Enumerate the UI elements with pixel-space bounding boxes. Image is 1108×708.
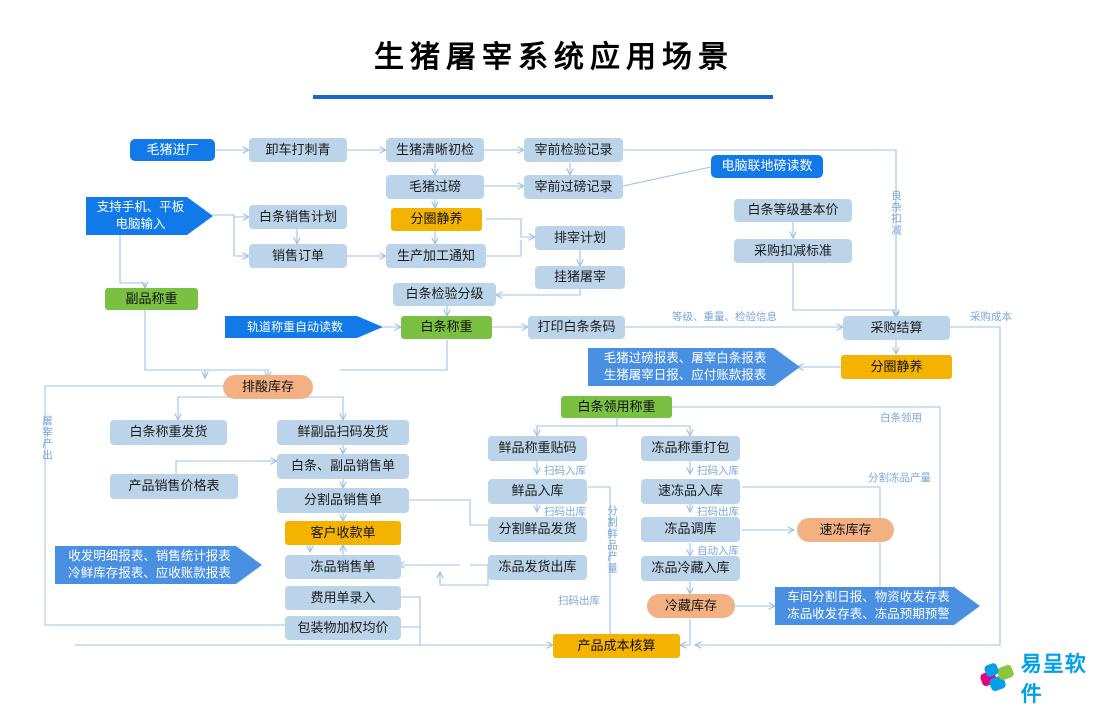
node-fresh-instock[interactable]: 鲜品入库 [488,479,587,504]
node-print-whitestrip-barcode[interactable]: 打印白条条码 [528,316,625,339]
node-whitestrip-weighing[interactable]: 白条称重 [401,316,492,339]
node-quickfrozen-inventory[interactable]: 速冻库存 [797,518,894,542]
node-fresh-weigh-label[interactable]: 鲜品称重贴码 [488,436,587,461]
node-byproduct-weighing[interactable]: 副品称重 [105,288,198,310]
banner-mobile-input: 支持手机、平板 电脑输入 [86,197,213,235]
banner-workshop-reports-line2: 冻品收发存表、冻品预期预警 [787,606,950,623]
node-product-price-list[interactable]: 产品销售价格表 [110,474,238,499]
edge-label-good-misc-deduction: 良杂扣减 [889,190,904,236]
banner-mobile-input-line1: 支持手机、平板 [97,199,185,216]
node-frozen-sales-order[interactable]: 冻品销售单 [285,555,401,579]
node-purchase-deduction-std[interactable]: 采购扣减标准 [734,239,852,263]
node-pen-rest[interactable]: 分圈静养 [391,208,482,231]
edge-label-scan-instock-1: 扫码入库 [544,463,586,478]
node-cold-storage-inventory[interactable]: 冷藏库存 [647,594,735,618]
node-production-notice[interactable]: 生产加工通知 [386,244,486,268]
logo-mark-icon [981,664,1015,692]
edge-label-scan-instock-2: 扫码入库 [697,463,739,478]
banner-purchase-reports-line1: 毛猪过磅报表、屠宰白条报表 [604,350,767,367]
node-whitestrip-ship-weigh[interactable]: 白条称重发货 [110,420,227,445]
node-computer-scale-reading[interactable]: 电脑联地磅读数 [711,155,823,178]
edge-label-cut-frozen-output: 分割冻品产量 [868,470,931,485]
brand-logo: 易呈软件 [981,648,1108,708]
banner-track-reading-text: 轨道称重自动读数 [247,319,343,335]
edge-label-purchase-cost: 采购成本 [970,309,1012,324]
logo-text: 易呈软件 [1021,648,1108,708]
node-whitestrip-sales-plan[interactable]: 白条销售计划 [249,205,347,229]
edge-label-whitestrip-issue: 白条领用 [880,410,922,425]
node-whitestrip-inspect-grade[interactable]: 白条检验分级 [393,283,496,306]
node-expense-entry[interactable]: 费用单录入 [285,586,401,610]
node-quickfrozen-instock[interactable]: 速冻品入库 [641,479,740,504]
banner-workshop-reports-line1: 车间分割日报、物资收发存表 [787,589,950,606]
node-frozen-ship-out[interactable]: 冻品发货出库 [488,555,587,580]
banner-sales-reports-line1: 收发明细报表、销售统计报表 [68,548,231,565]
node-hog-weighing[interactable]: 毛猪过磅 [386,175,484,199]
node-sales-order[interactable]: 销售订单 [249,244,347,268]
node-whitestrip-byproduct-order[interactable]: 白条、副品销售单 [277,454,409,479]
banner-workshop-reports: 车间分割日报、物资收发存表 冻品收发存表、冻品预期预警 [775,587,980,625]
edge-label-scan-outstock-3: 扫码出库 [558,593,600,608]
node-customer-receipt[interactable]: 客户收款单 [285,521,401,545]
node-whitestrip-issue-weigh[interactable]: 白条领用称重 [561,396,672,418]
node-pre-slaughter-weigh-record[interactable]: 宰前过磅记录 [524,175,623,199]
node-pen-rest-2[interactable]: 分圈静养 [841,355,952,379]
edge-label-grade-weight-inspection: 等级、重量、检验信息 [672,309,777,324]
banner-purchase-reports-line2: 生猪屠宰日报、应付账款报表 [604,367,767,384]
node-grade-base-price[interactable]: 白条等级基本价 [734,199,852,222]
banner-sales-reports-line2: 冷鲜库存报表、应收账款报表 [68,565,231,582]
diagram-canvas: 生猪屠宰系统应用场景 [0,0,1108,684]
banner-purchase-reports: 毛猪过磅报表、屠宰白条报表 生猪屠宰日报、应付账款报表 [588,348,800,386]
banner-mobile-input-line2: 电脑输入 [97,216,185,233]
node-frozen-cold-instock[interactable]: 冻品冷藏入库 [641,556,740,581]
node-unload-tattoo[interactable]: 卸车打刺青 [249,138,347,162]
node-frozen-weigh-pack[interactable]: 冻品称重打包 [641,436,740,461]
node-hog-entry[interactable]: 毛猪进厂 [130,139,215,161]
node-hang-slaughter[interactable]: 挂猪屠宰 [535,266,625,289]
edge-label-cut-fresh-output: 分割鲜品产量 [605,505,620,574]
node-cut-fresh-ship[interactable]: 分割鲜品发货 [488,517,587,542]
node-cut-product-order[interactable]: 分割品销售单 [277,488,409,513]
node-frozen-transfer[interactable]: 冻品调库 [641,517,740,542]
node-product-cost-accounting[interactable]: 产品成本核算 [553,634,680,658]
edge-label-slaughter-output: 屠宰产出 [40,415,55,461]
node-purchase-settlement[interactable]: 采购结算 [843,316,950,340]
node-pig-initial-check[interactable]: 生猪清晰初检 [386,138,484,162]
node-slaughter-schedule[interactable]: 排宰计划 [535,226,625,250]
node-fresh-byproduct-scan-ship[interactable]: 鲜副品扫码发货 [277,420,409,445]
node-pre-slaughter-record[interactable]: 宰前检验记录 [524,138,623,162]
banner-track-auto-reading: 轨道称重自动读数 [225,316,383,338]
node-packaging-weighted-price[interactable]: 包装物加权均价 [285,616,401,640]
node-acid-inventory[interactable]: 排酸库存 [223,375,313,399]
banner-sales-reports: 收发明细报表、销售统计报表 冷鲜库存报表、应收账款报表 [55,546,262,584]
